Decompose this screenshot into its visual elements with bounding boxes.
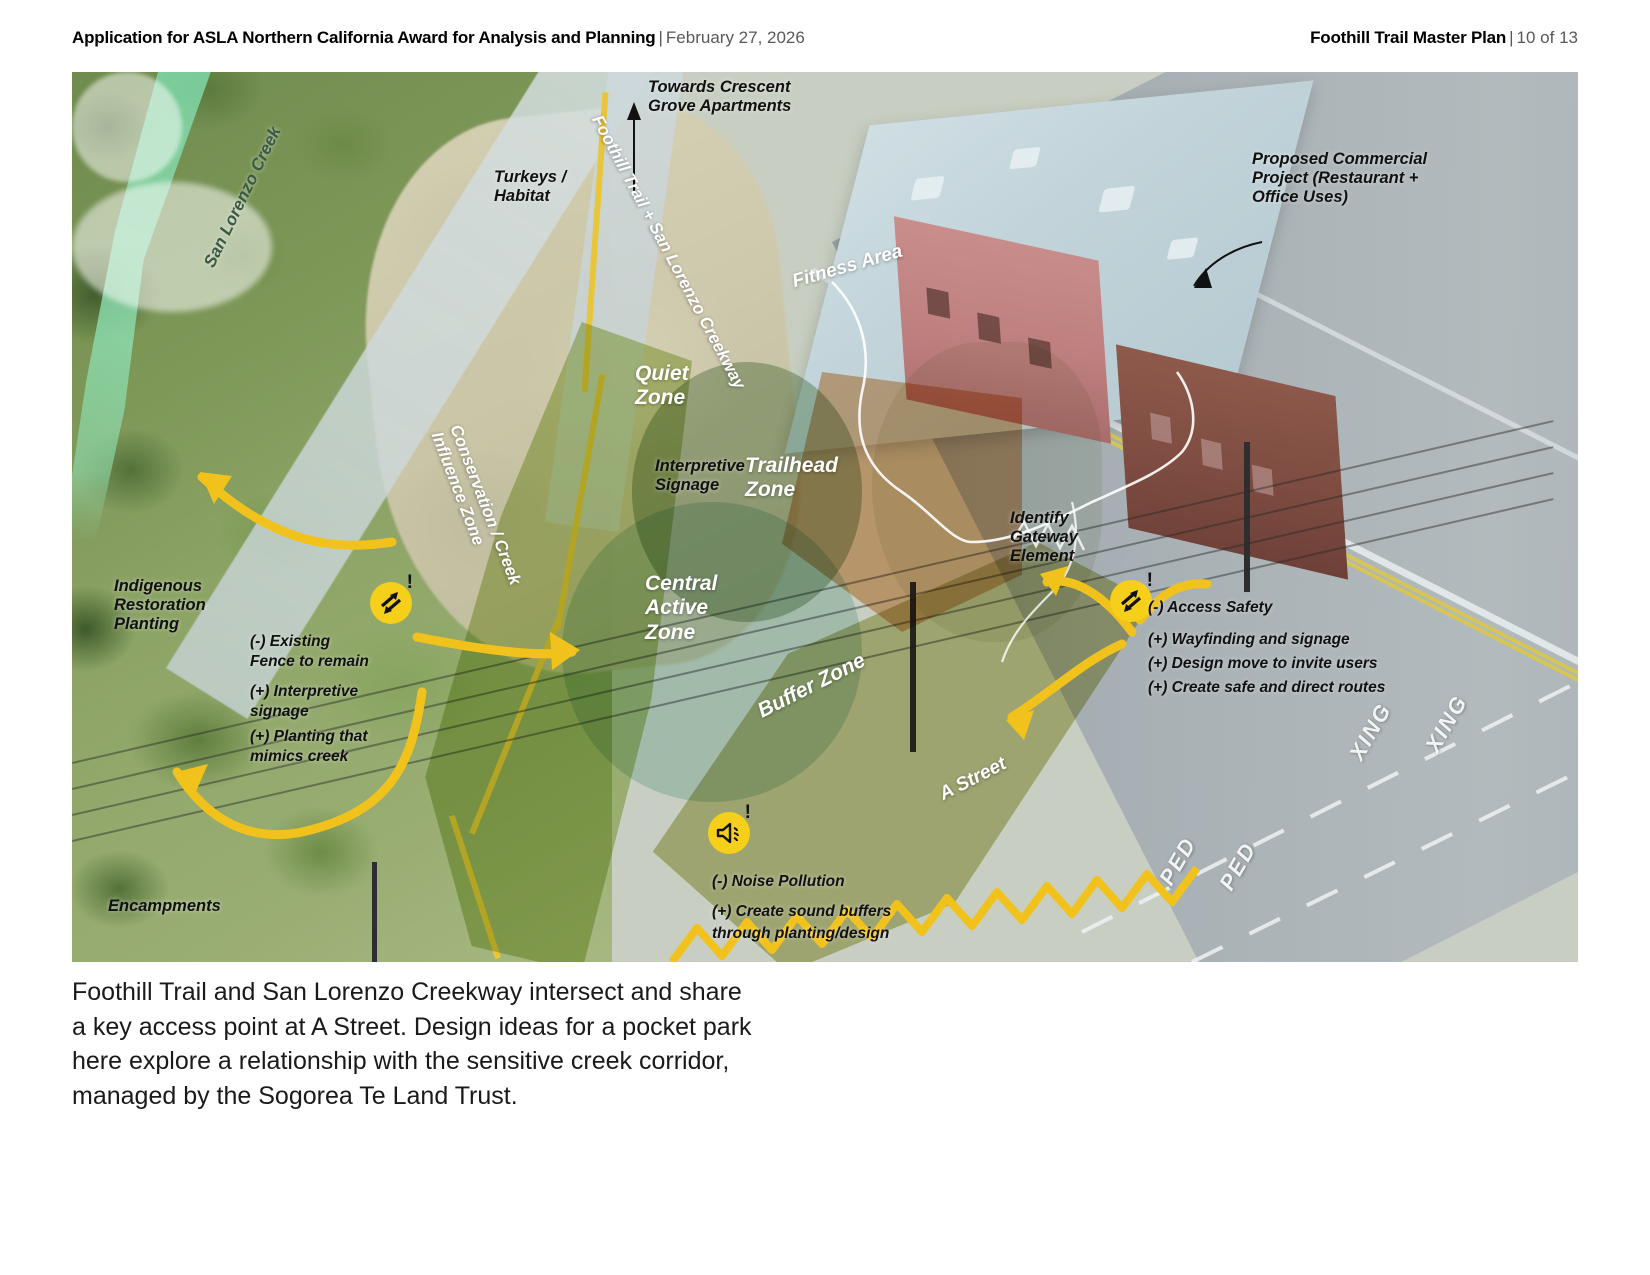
- building-window: [1252, 465, 1274, 496]
- label-towards-crescent-grove: Towards Crescent Grove Apartments: [648, 78, 791, 116]
- annotation-noise-plus-1: (+) Create sound buffers: [712, 902, 891, 922]
- roof-unit: [1098, 186, 1135, 213]
- annotation-fence-minus: (-) Existing Fence to remain: [250, 632, 369, 672]
- label-turkeys-habitat: Turkeys / Habitat: [494, 168, 566, 206]
- caption-line-4: managed by the Sogorea Te Land Trust.: [72, 1079, 772, 1114]
- caption-line-1: Foothill Trail and San Lorenzo Creekway …: [72, 975, 772, 1010]
- label-quiet-zone: Quiet Zone: [635, 362, 689, 411]
- power-pole: [372, 862, 377, 962]
- alert-icon: !: [407, 572, 413, 594]
- interpretive-signage-node: [72, 72, 182, 182]
- annotation-access-plus-1: (+) Wayfinding and signage: [1148, 630, 1350, 650]
- two-way-arrows-icon: [1118, 588, 1144, 614]
- label-central-active-zone: Central Active Zone: [645, 572, 717, 645]
- annotation-fence-plus-2: (+) Planting that mimics creek: [250, 727, 368, 767]
- label-trailhead-zone: Trailhead Zone: [745, 454, 838, 503]
- access-conflict-marker-east[interactable]: !: [1110, 580, 1152, 622]
- speaker-noise-icon: [715, 821, 743, 845]
- header-separator-right: |: [1506, 28, 1516, 47]
- header-left: Application for ASLA Northern California…: [72, 28, 805, 48]
- label-proposed-commercial-project: Proposed Commercial Project (Restaurant …: [1252, 150, 1427, 207]
- label-interpretive-signage: Interpretive Signage: [655, 457, 745, 495]
- label-indigenous-restoration-planting: Indigenous Restoration Planting: [114, 577, 206, 634]
- roof-unit: [1166, 237, 1198, 260]
- header-page-number: 10 of 13: [1517, 28, 1578, 47]
- annotation-fence-plus-1: (+) Interpretive signage: [250, 682, 358, 722]
- label-identify-gateway-element: Identify Gateway Element: [1010, 509, 1078, 566]
- caption-line-2: a key access point at A Street. Design i…: [72, 1010, 772, 1045]
- aerial-plan-figure: Towards Crescent Grove Apartments Turkey…: [72, 72, 1578, 962]
- header-project-title: Foothill Trail Master Plan: [1310, 28, 1506, 47]
- annotation-access-minus: (-) Access Safety: [1148, 598, 1272, 618]
- access-conflict-marker-west[interactable]: !: [370, 582, 412, 624]
- page-header: Application for ASLA Northern California…: [0, 0, 1650, 66]
- annotation-noise-minus: (-) Noise Pollution: [712, 872, 845, 892]
- annotation-noise-plus-2: through planting/design: [712, 924, 889, 944]
- building-window: [977, 312, 1001, 343]
- building-window: [926, 287, 950, 318]
- roof-unit: [1009, 147, 1041, 170]
- zone-central-active: [562, 502, 862, 802]
- two-way-arrows-icon: [378, 590, 404, 616]
- header-separator-left: |: [656, 28, 666, 47]
- alert-icon: !: [745, 802, 751, 824]
- noise-marker[interactable]: !: [708, 812, 750, 854]
- roof-unit: [910, 176, 945, 201]
- building-window: [1201, 439, 1223, 470]
- label-encampments: Encampments: [108, 897, 221, 916]
- header-right: Foothill Trail Master Plan|10 of 13: [1310, 28, 1578, 48]
- caption-line-3: here explore a relationship with the sen…: [72, 1044, 772, 1079]
- annotation-access-plus-2: (+) Design move to invite users: [1148, 654, 1378, 674]
- header-application-title: Application for ASLA Northern California…: [72, 28, 656, 47]
- figure-caption: Foothill Trail and San Lorenzo Creekway …: [72, 975, 772, 1113]
- header-date: February 27, 2026: [666, 28, 805, 47]
- building-window: [1150, 413, 1172, 444]
- alert-icon: !: [1147, 570, 1153, 592]
- annotation-access-plus-3: (+) Create safe and direct routes: [1148, 678, 1385, 698]
